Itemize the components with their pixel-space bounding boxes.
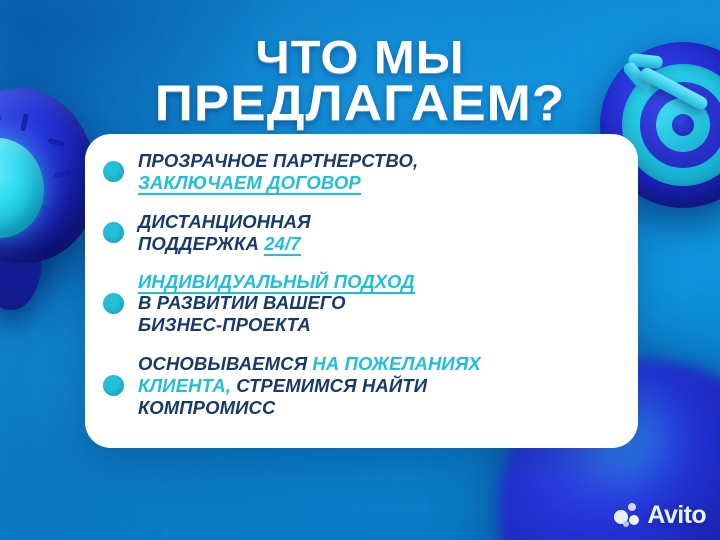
text-segment: БИЗНЕС-ПРОЕКТА [138, 314, 311, 335]
lightbulb-neck [0, 236, 42, 310]
text-segment[interactable]: ИНДИВИДУАЛЬНЫЙ ПОДХОД [138, 271, 415, 295]
list-item-text: ДИСТАНЦИОННАЯПОДДЕРЖКА 24/7 [138, 211, 311, 254]
avito-watermark: Avito [614, 501, 706, 530]
benefits-card: ПРОЗРАЧНОЕ ПАРТНЕРСТВО,ЗАКЛЮЧАЕМ ДОГОВОР… [85, 134, 638, 448]
bullet-dot-icon [103, 375, 124, 396]
list-item-text: ПРОЗРАЧНОЕ ПАРТНЕРСТВО,ЗАКЛЮЧАЕМ ДОГОВОР [138, 150, 418, 193]
text-segment: ОСНОВЫВАЕМСЯ [138, 353, 312, 374]
page-title: ЧТО МЫ ПРЕДЛАГАЕМ? [0, 35, 720, 128]
list-item: ИНДИВИДУАЛЬНЫЙ ПОДХОДВ РАЗВИТИИ ВАШЕГОБИ… [103, 271, 626, 336]
avito-dot-bottom-right [629, 515, 639, 525]
dart-shaft [638, 66, 709, 112]
text-segment: ПОДДЕРЖКА [138, 233, 264, 254]
text-segment: В РАЗВИТИИ ВАШЕГО [138, 292, 346, 313]
target-ring-3 [640, 82, 720, 168]
target-bullseye [672, 114, 694, 136]
dart-fin [628, 53, 663, 69]
list-item: ДИСТАНЦИОННАЯПОДДЕРЖКА 24/7 [103, 211, 626, 254]
avito-dot-small [623, 521, 629, 527]
dart-icon [620, 51, 717, 119]
target-ring-4 [656, 98, 710, 152]
avito-wordmark: Avito [647, 501, 706, 530]
lightbulb-ray [48, 138, 66, 147]
avito-dots-icon [614, 503, 640, 529]
avito-dot-top-right [628, 503, 636, 511]
bullet-dot-icon [103, 293, 124, 314]
text-segment: СТРЕМИМСЯ НАЙТИ [231, 375, 427, 396]
bullet-dot-icon [103, 222, 124, 243]
list-item-text: ОСНОВЫВАЕМСЯ НА ПОЖЕЛАНИЯХКЛИЕНТА, СТРЕМ… [138, 353, 481, 418]
lightbulb-glow-core [0, 138, 44, 238]
text-segment: ДИСТАНЦИОННАЯ [138, 211, 311, 232]
text-segment: ПРОЗРАЧНОЕ ПАРТНЕРСТВО, [138, 150, 418, 171]
text-segment: КОМПРОМИСС [138, 397, 275, 418]
text-segment: КЛИЕНТА, [138, 375, 231, 396]
benefits-list: ПРОЗРАЧНОЕ ПАРТНЕРСТВО,ЗАКЛЮЧАЕМ ДОГОВОР… [103, 150, 626, 418]
page-title-line-1: ЧТО МЫ [0, 35, 720, 80]
page-title-line-2: ПРЕДЛАГАЕМ? [0, 79, 720, 128]
bullet-dot-icon [103, 161, 124, 182]
lightbulb-ray [54, 171, 72, 178]
text-segment[interactable]: ЗАКЛЮЧАЕМ ДОГОВОР [138, 172, 361, 196]
list-item-text: ИНДИВИДУАЛЬНЫЙ ПОДХОДВ РАЗВИТИИ ВАШЕГОБИ… [138, 271, 415, 336]
text-segment: НА ПОЖЕЛАНИЯХ [312, 353, 480, 374]
list-item: ПРОЗРАЧНОЕ ПАРТНЕРСТВО,ЗАКЛЮЧАЕМ ДОГОВОР [103, 150, 626, 193]
lightbulb-ray [0, 104, 1, 122]
text-segment[interactable]: 24/7 [264, 233, 300, 257]
lightbulb-ray [33, 204, 48, 222]
lightbulb-ray [20, 114, 28, 132]
lightbulb-body [0, 88, 97, 263]
dart-fin [621, 60, 653, 94]
promo-slide: ЧТО МЫ ПРЕДЛАГАЕМ? ПРОЗРАЧНОЕ ПАРТНЕРСТВ… [0, 0, 720, 540]
list-item: ОСНОВЫВАЕМСЯ НА ПОЖЕЛАНИЯХКЛИЕНТА, СТРЕМ… [103, 353, 626, 418]
